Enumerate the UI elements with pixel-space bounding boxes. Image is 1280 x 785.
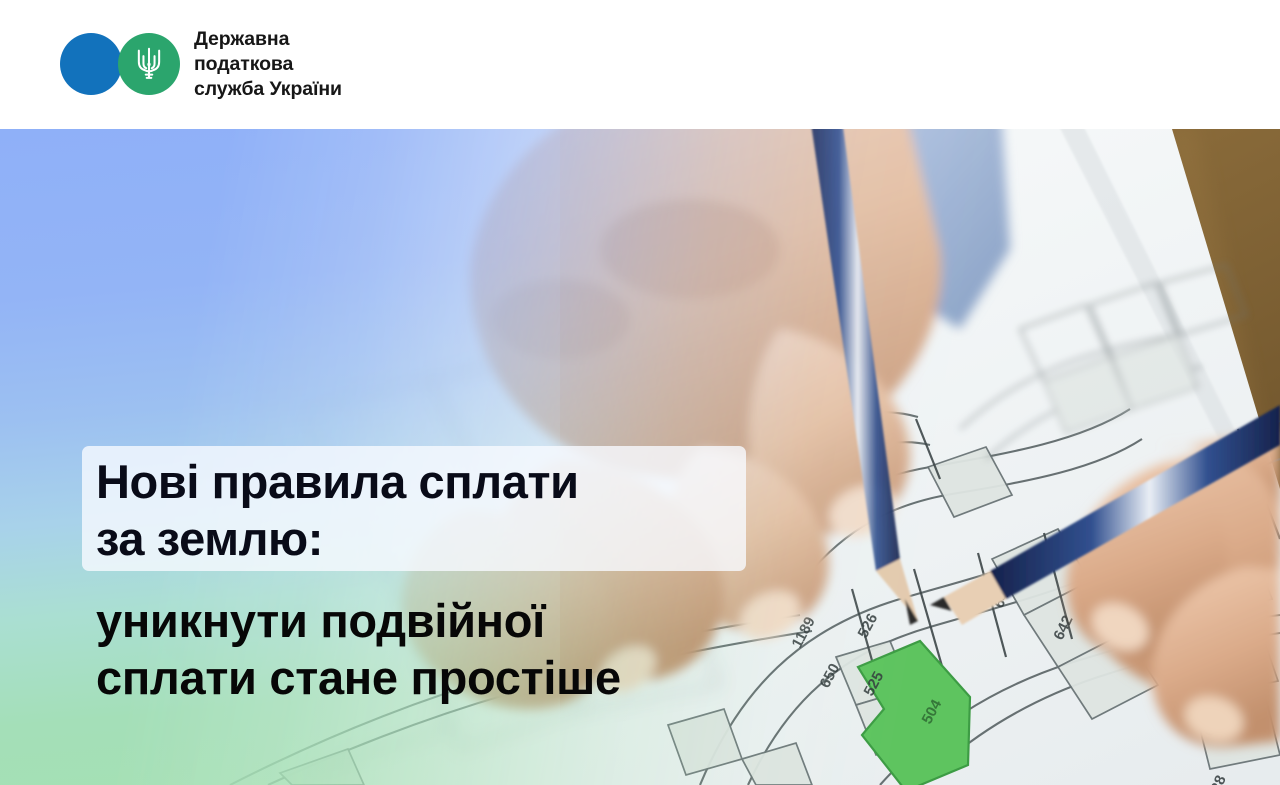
page-title-line-1: Нові правила сплати — [96, 453, 796, 510]
logo-marks — [60, 33, 182, 95]
page-subtitle-line-1: уникнути подвійної — [96, 592, 816, 649]
blue-circle-icon — [60, 33, 122, 95]
organization-name: Державна податкова служба України — [194, 27, 342, 102]
ukraine-trident-icon — [135, 46, 163, 82]
page-header: Державна податкова служба України — [0, 0, 1280, 129]
page-title-line-2: за землю: — [96, 510, 796, 567]
page-subtitle-line-2: сплати стане простіше — [96, 649, 816, 706]
page-title: Нові правила сплати за землю: — [96, 453, 796, 567]
hero-banner: 526 525 650 1189 643 642 641 743 629 628… — [0, 129, 1280, 785]
green-circle-icon — [118, 33, 180, 95]
page-subtitle: уникнути подвійної сплати стане простіше — [96, 592, 816, 706]
organization-logo[interactable]: Державна податкова служба України — [60, 27, 342, 102]
